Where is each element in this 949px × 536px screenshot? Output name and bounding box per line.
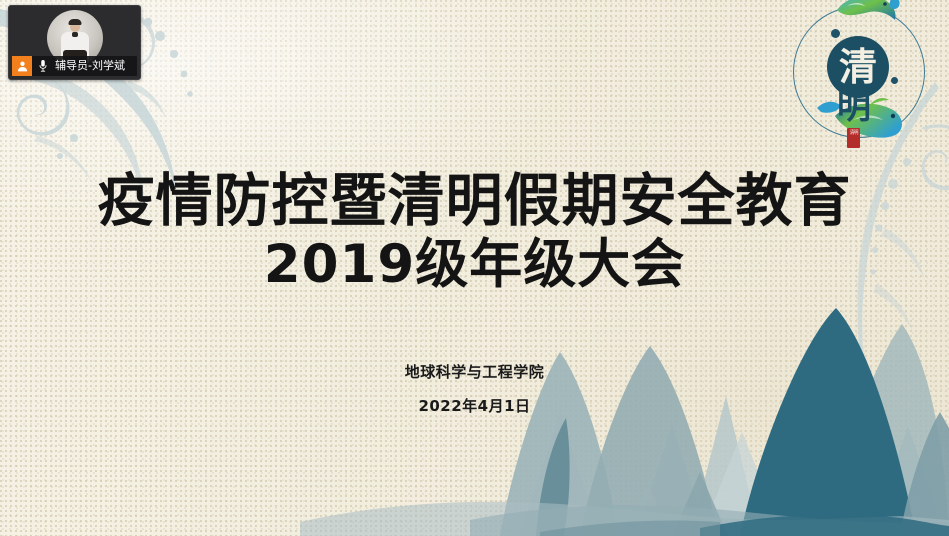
avatar-tie [72,32,78,37]
seal-dot-lower [891,77,898,84]
seal-char-ming: 明 [837,90,871,124]
koi-fish-top-icon [833,0,901,30]
person-icon [12,56,32,76]
presentation-slide: 清 明 清明 [0,0,949,536]
avatar-hair [68,19,81,25]
seal-dot-upper [831,29,840,38]
participant-video-tile[interactable]: 辅导员-刘学斌 [8,5,141,80]
seal-char-qing: 清 [839,48,877,86]
qingming-seal-decoration: 清 明 清明 [779,0,945,172]
microphone-icon[interactable] [34,59,52,73]
red-seal-stamp: 清明 [847,128,860,148]
video-tile-name-bar: 辅导员-刘学斌 [12,56,137,76]
participant-name: 辅导员-刘学斌 [55,56,125,76]
